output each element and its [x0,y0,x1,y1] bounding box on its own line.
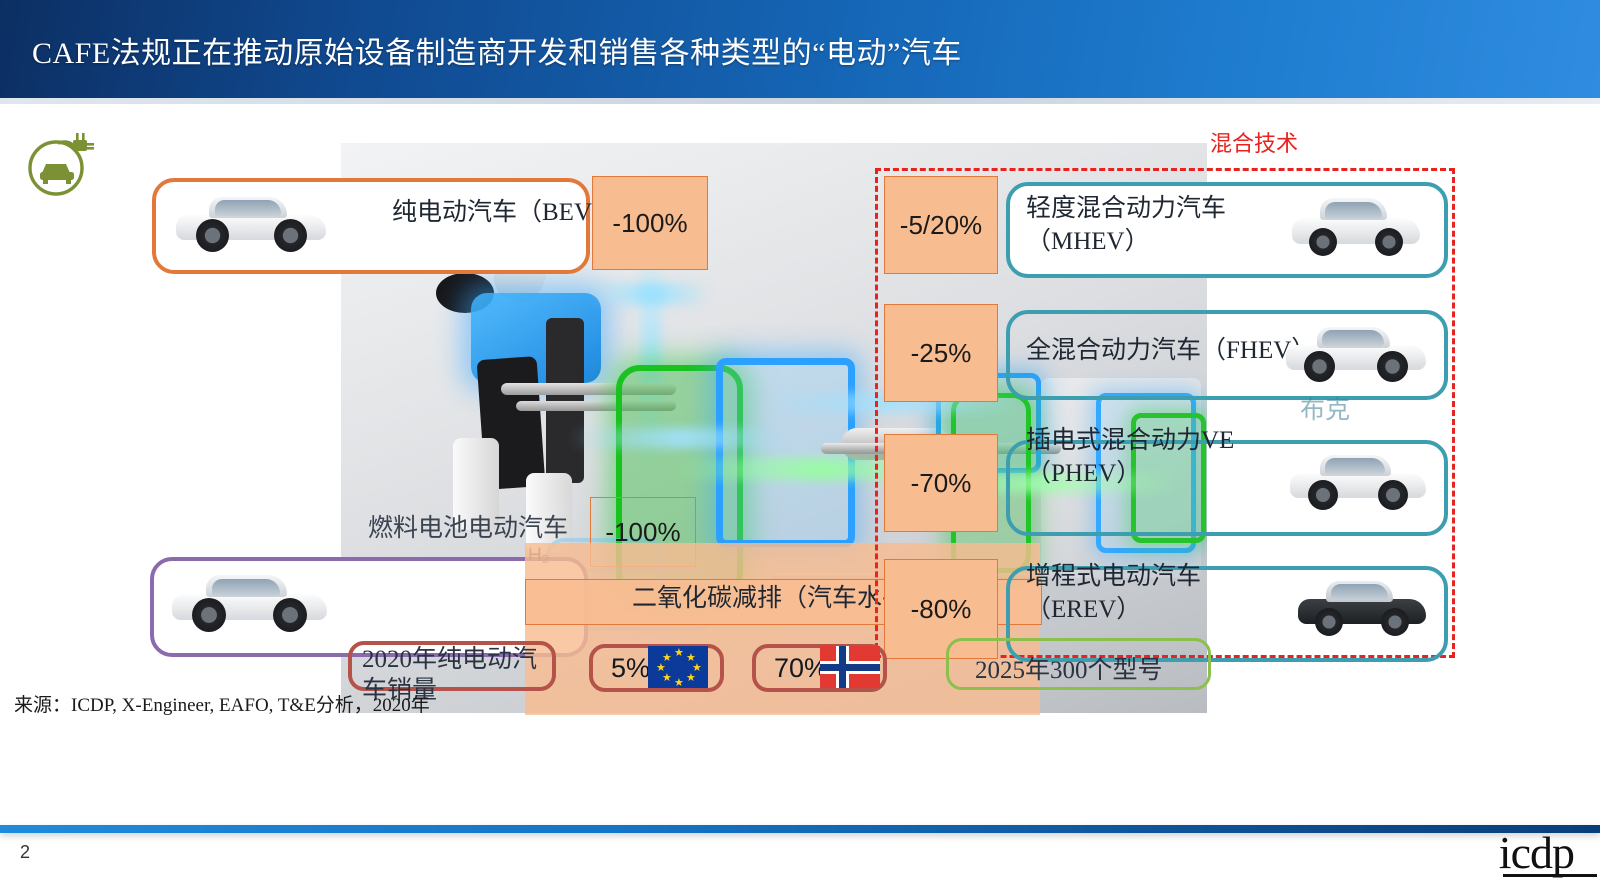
slide-root: CAFE法规正在推动原始设备制造商开发和销售各种类型的“电动”汽车 [0,0,1600,896]
bev-car-image [176,192,326,254]
phev-percent-badge: -70% [884,434,998,532]
mhev-car-image [1292,192,1420,258]
fcev-label: 燃料电池电动汽车 [368,508,568,544]
models-2025-label: 2025年300个型号 [975,650,1163,686]
stat-value-eu: 5% [593,653,650,684]
fhev-label: 全混合动力汽车（FHEV） [1026,334,1316,367]
page-title: CAFE法规正在推动原始设备制造商开发和销售各种类型的“电动”汽车 [32,28,962,72]
phev-label: 插电式混合动力VE （PHEV） [1026,424,1234,490]
mhev-percent-badge: -5/20% [884,176,998,274]
bev-label: 纯电动汽车（BEV） [392,196,617,229]
fhev-car-image [1286,322,1426,384]
icdp-logo: icdp [1499,826,1574,879]
electric-car-plug-icon [18,124,100,202]
norway-flag [820,646,880,688]
stat-value-no: 70% [756,653,828,684]
page-number: 2 [20,842,30,863]
title-bar: CAFE法规正在推动原始设备制造商开发和销售各种类型的“电动”汽车 [0,0,1600,98]
source-note: 来源：ICDP, X-Engineer, EAFO, T&E分析，2020年 [14,690,430,717]
erev-car-image [1298,576,1426,638]
title-underline [0,98,1600,104]
fhev-ghost-label: 布克 [1300,390,1350,426]
footer-rule [0,825,1600,833]
phev-car-image [1290,450,1426,512]
fcev-car-image [172,570,327,634]
hybrid-technology-title: 混合技术 [1210,126,1298,158]
fhev-percent-badge: -25% [884,304,998,402]
erev-label: 增程式电动汽车 （EREV） [1026,560,1201,626]
icdp-logo-bar [1503,874,1597,877]
mhev-label: 轻度混合动力汽车 （MHEV） [1026,192,1226,258]
european-union-flag: ★ ★ ★ ★ ★ ★ ★ ★ [648,646,708,688]
bev-percent-badge: -100% [592,176,708,270]
icdp-logo-text: icdp [1499,827,1574,878]
